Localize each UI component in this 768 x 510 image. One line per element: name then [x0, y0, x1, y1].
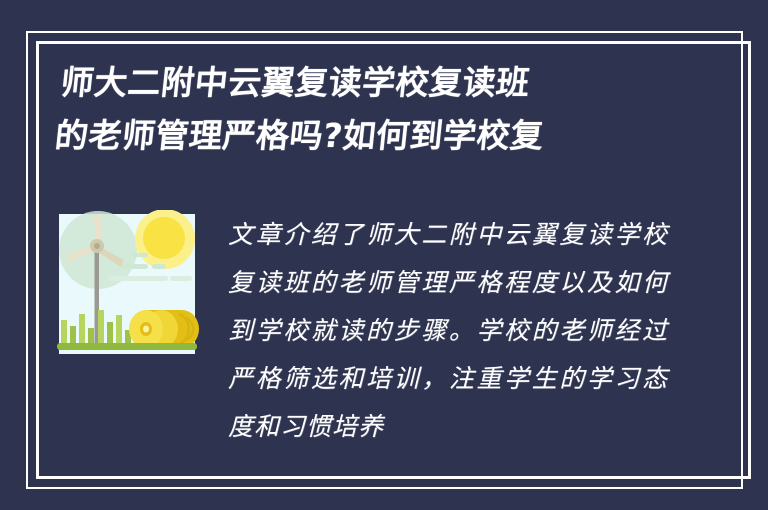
illustration-wind-turbine: [51, 210, 199, 358]
ground-strip: [57, 343, 197, 350]
page-title: 师大二附中云翼复读学校复读班 的老师管理严格吗?如何到学校复: [52, 56, 683, 162]
poster-card: 师大二附中云翼复读学校复读班 的老师管理严格吗?如何到学校复: [0, 0, 768, 510]
wind-turbine-illustration-svg: [51, 210, 199, 358]
cloud-streak-1: [131, 253, 148, 257]
cloud-streak-3: [152, 264, 166, 269]
turbine-hub-center: [94, 243, 100, 249]
cloud-streak-5: [170, 276, 192, 281]
cloud-streak-2: [121, 264, 148, 269]
cloud-streak-4: [108, 276, 168, 281]
sun-core: [143, 217, 185, 259]
body-paragraph: 文章介绍了师大二附中云翼复读学校复读班的老师管理严格程度以及如何到学校就读的步骤…: [228, 211, 668, 451]
hay-bales: [129, 310, 199, 348]
